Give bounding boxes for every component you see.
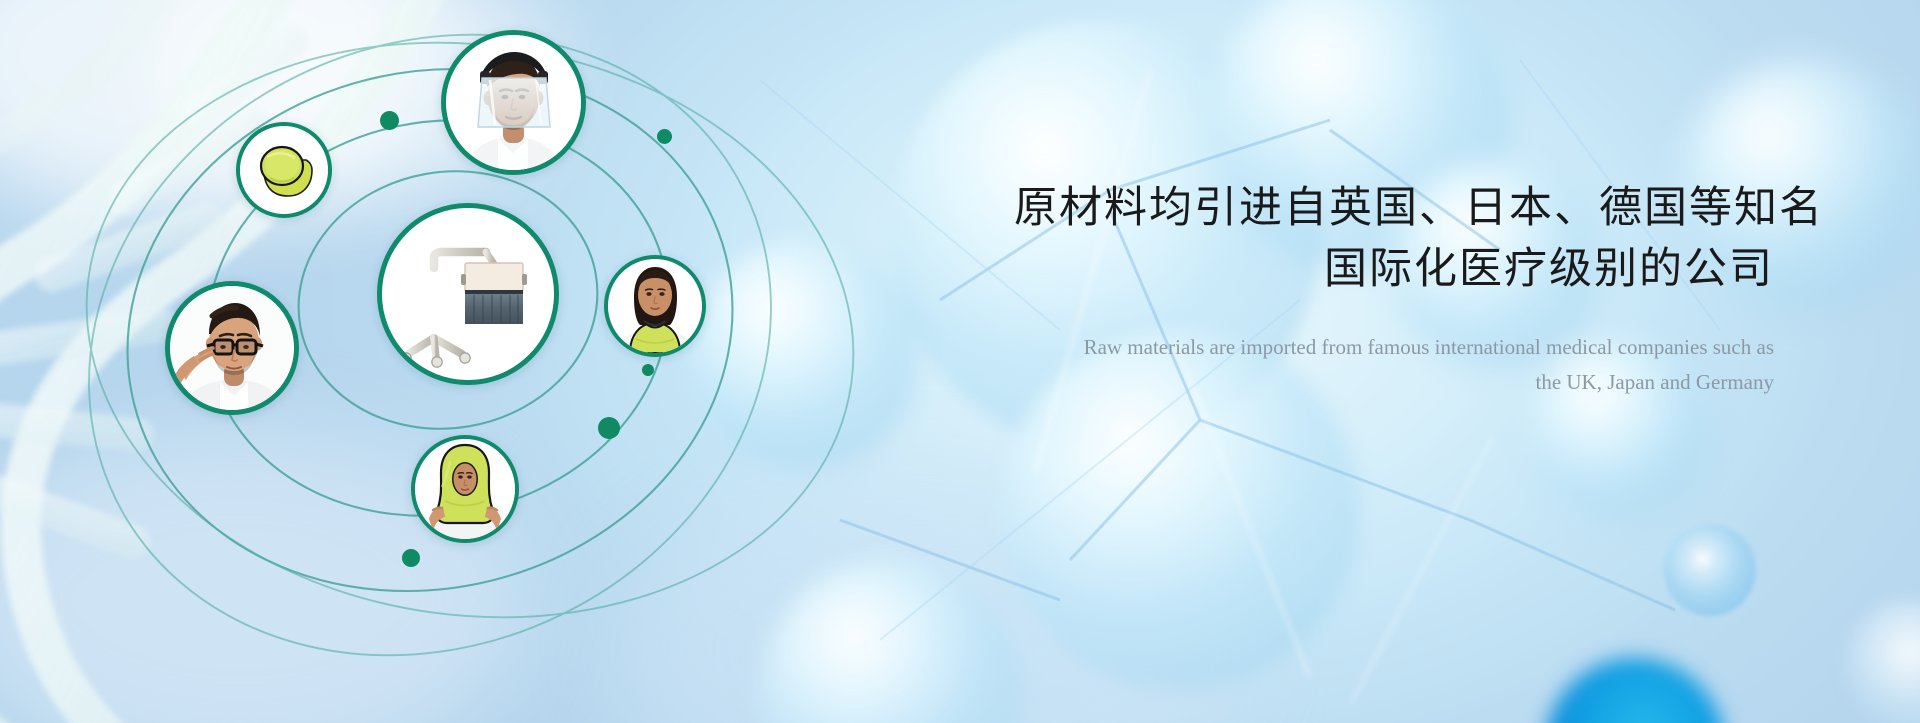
bubble-lead-cap[interactable] bbox=[236, 122, 332, 218]
lead-cap-illustration bbox=[240, 126, 328, 214]
subtitle-line-2: the UK, Japan and Germany bbox=[1014, 365, 1774, 400]
headline-line-2: 国际化医疗级别的公司 bbox=[1014, 239, 1774, 300]
orbit-dot bbox=[598, 417, 620, 439]
lead-glasses-man-illustration bbox=[170, 286, 294, 410]
orbit-dot bbox=[642, 364, 654, 376]
thyroid-collar-woman-illustration bbox=[608, 259, 702, 353]
headline-line-1: 原材料均引进自英国、日本、德国等知名 bbox=[1014, 178, 1774, 239]
bubble-thyroid-collar[interactable] bbox=[604, 255, 706, 357]
bubble-lead-glasses-man[interactable] bbox=[165, 281, 299, 415]
bubble-protective-hood[interactable] bbox=[411, 435, 519, 543]
face-shield-man-illustration bbox=[446, 35, 581, 170]
subtitle-block: Raw materials are imported from famous i… bbox=[1014, 330, 1774, 400]
banner-root: 原材料均引进自英国、日本、德国等知名 国际化医疗级别的公司 Raw materi… bbox=[0, 0, 1920, 723]
bubble-face-shield-man[interactable] bbox=[441, 30, 586, 175]
mobile-xray-barrier-illustration bbox=[382, 208, 554, 380]
orbit-dot bbox=[380, 111, 399, 130]
molecule-small-sphere bbox=[1664, 524, 1756, 616]
orbit-dot bbox=[657, 129, 672, 144]
subtitle-line-1: Raw materials are imported from famous i… bbox=[1084, 335, 1774, 359]
bubble-mobile-barrier[interactable] bbox=[377, 203, 559, 385]
orbit-dot bbox=[402, 549, 420, 567]
protective-hood-woman-illustration bbox=[415, 439, 515, 539]
copy-block: 原材料均引进自英国、日本、德国等知名 国际化医疗级别的公司 Raw materi… bbox=[1014, 178, 1774, 400]
